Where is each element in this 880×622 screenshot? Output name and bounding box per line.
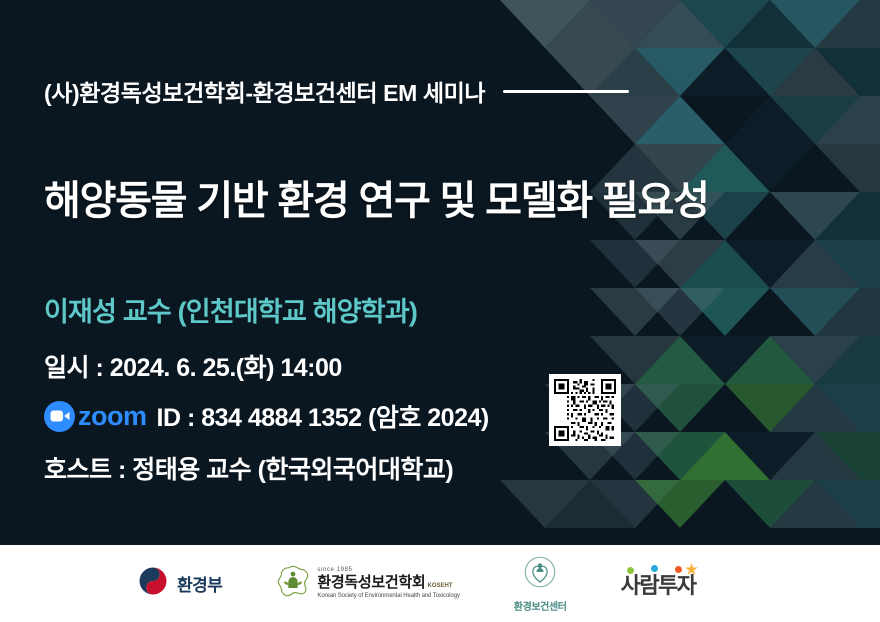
- poster-header: (사)환경독성보건학회-환경보건센터 EM 세미나: [44, 74, 629, 108]
- page-title: 해양동물 기반 환경 연구 및 모델화 필요성: [44, 168, 709, 226]
- koseht-text-block: since 1985 환경독성보건학회KOSEHT Korean Society…: [317, 567, 459, 600]
- koseht-label-en: Korean Society of Environmental Health a…: [317, 593, 459, 600]
- seminar-datetime: 일시 : 2024. 6. 25.(화) 14:00: [44, 348, 342, 384]
- sponsor-footer: 환경부 since 1985 환경독성보건학회KOSEHT Korean Soc…: [0, 545, 880, 622]
- speaker-name: 이재성 교수 (인천대학교 해양학과): [44, 290, 417, 329]
- header-rule: [503, 90, 629, 93]
- logo-saram-tuja: 사람투자: [621, 568, 696, 600]
- zoom-meeting-line: zoom ID : 834 4884 1352 (암호 2024): [44, 398, 489, 434]
- zoom-meeting-id: ID : 834 4884 1352 (암호 2024): [157, 398, 489, 434]
- koseht-label-ko: 환경독성보건학회KOSEHT: [317, 575, 459, 592]
- logo-label-ministry: 환경부: [177, 571, 222, 596]
- koseht-emblem-icon: [276, 564, 310, 603]
- host-name: 호스트 : 정태용 교수 (한국외국어대학교): [44, 450, 453, 486]
- zoom-logo: zoom: [44, 401, 147, 432]
- koseht-since: since 1985: [317, 567, 459, 574]
- saram-tuja-dots-icon: [625, 565, 699, 577]
- video-camera-icon: [44, 401, 75, 432]
- logo-label-ehc: 환경보건센터: [514, 598, 567, 613]
- seminar-poster: (사)환경독성보건학회-환경보건센터 EM 세미나 해양동물 기반 환경 연구 …: [0, 0, 880, 622]
- qr-code[interactable]: [549, 374, 621, 446]
- eyebrow-text: (사)환경독성보건학회-환경보건센터 EM 세미나: [44, 74, 485, 108]
- logo-environmental-health-center: 환경보건센터: [514, 555, 567, 613]
- zoom-wordmark: zoom: [78, 403, 147, 430]
- taegeuk-icon: [138, 566, 168, 601]
- heart-circle-icon: [523, 555, 557, 594]
- logo-ministry-of-environment: 환경부: [138, 566, 222, 601]
- logo-koseht: since 1985 환경독성보건학회KOSEHT Korean Society…: [276, 564, 459, 603]
